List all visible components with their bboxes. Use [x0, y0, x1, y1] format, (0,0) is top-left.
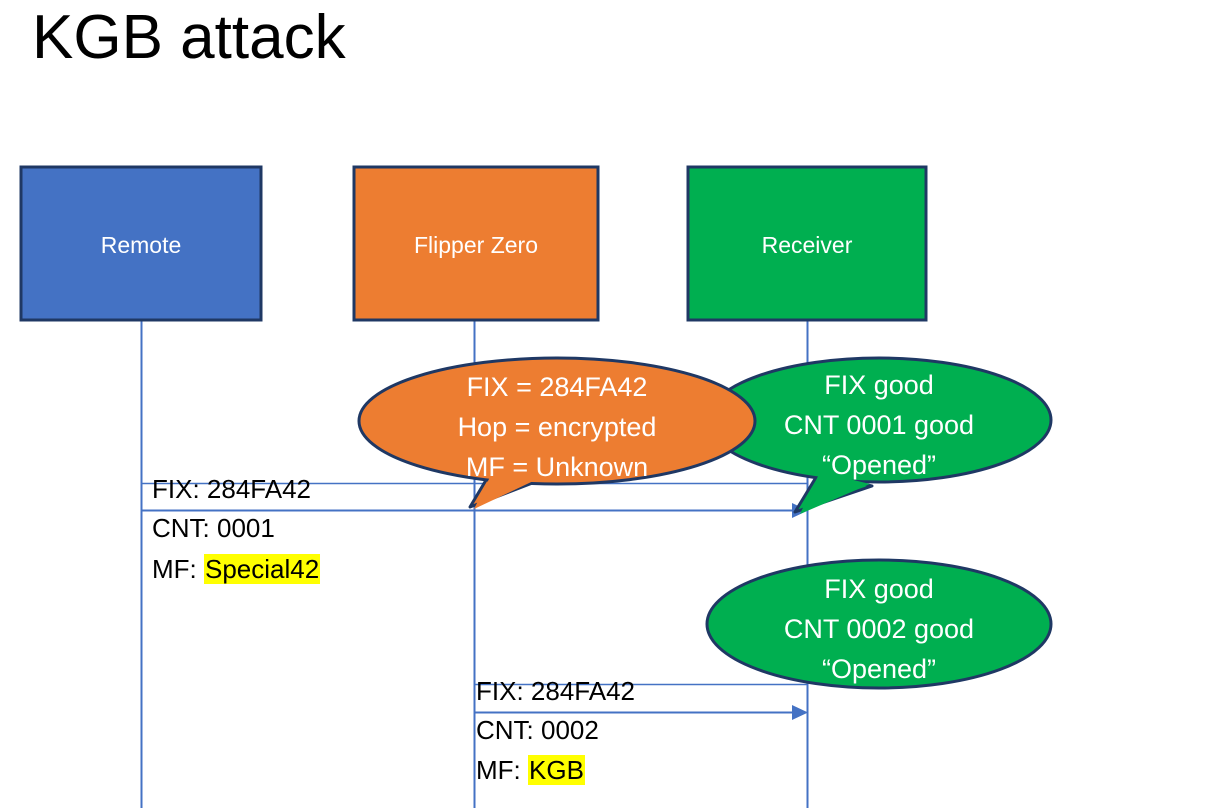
actor-box-remote[interactable]	[21, 167, 261, 320]
callout-flipper-capture[interactable]	[359, 358, 755, 509]
message-2-line-3-value: KGB	[528, 755, 585, 785]
message-2-line-2-label: CNT:	[476, 715, 541, 745]
message-2-line-2-value: 0002	[541, 715, 599, 745]
message-1-line-3-value: Special42	[204, 554, 320, 584]
message-1-line-2-label: CNT:	[152, 513, 217, 543]
message-2-line-1-value: 284FA42	[531, 676, 635, 706]
message-1-line-2: CNT: 0001	[152, 515, 275, 541]
message-1-line-1-value: 284FA42	[207, 474, 311, 504]
message-2-line-1-label: FIX:	[476, 676, 531, 706]
actor-box-receiver[interactable]	[688, 167, 926, 320]
callout-receiver-accept-2[interactable]	[707, 560, 1051, 688]
message-1-line-3-label: MF:	[152, 554, 204, 584]
message-2-line-2: CNT: 0002	[476, 717, 599, 743]
message-1-line-1-label: FIX:	[152, 474, 207, 504]
message-2-line-1: FIX: 284FA42	[476, 678, 635, 704]
message-2-line-3: MF: KGB	[476, 757, 585, 783]
message-2-line-3-label: MF:	[476, 755, 528, 785]
slide-canvas: KGB attack	[0, 0, 1218, 808]
message-1-line-1: FIX: 284FA42	[152, 476, 311, 502]
actor-box-flipper[interactable]	[354, 167, 598, 320]
callout-receiver-accept-1[interactable]	[707, 358, 1051, 514]
message-1-line-3: MF: Special42	[152, 556, 320, 582]
message-1-line-2-value: 0001	[217, 513, 275, 543]
